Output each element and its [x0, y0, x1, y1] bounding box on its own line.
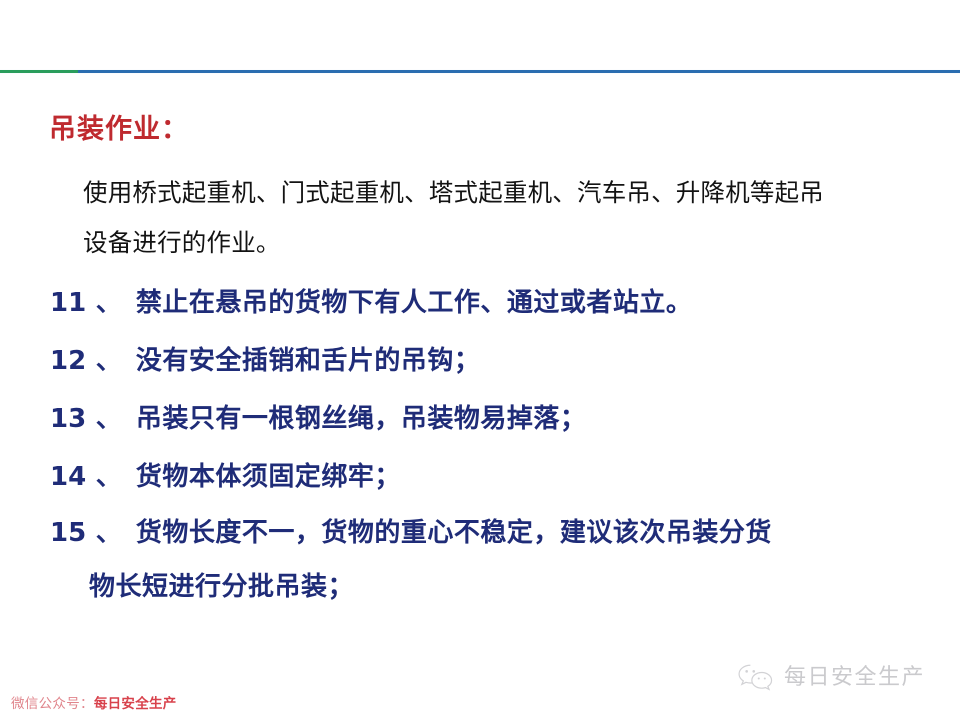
list-item-number: 13: [50, 404, 86, 434]
top-divider-rule: [0, 69, 960, 74]
list-item-number: 12: [50, 346, 86, 376]
list-item-number: 14: [50, 462, 86, 492]
page-title: 吊装作业：: [49, 107, 189, 146]
watermark-right: 每日安全生产: [737, 663, 925, 693]
description-line-1: 使用桥式起重机、门式起重机、塔式起重机、汽车吊、升降机等起吊: [83, 168, 913, 218]
watermark-left-label: 微信公众号：: [11, 696, 94, 712]
list-item-separator: 、: [96, 288, 127, 318]
divider-green-segment: [0, 70, 78, 73]
list-item-first-line: 15 、 货物长度不一，货物的重心不稳定，建议该次吊装分货: [50, 506, 930, 560]
watermark-right-brand: 每日安全生产: [784, 665, 925, 691]
list-item-separator: 、: [96, 518, 127, 548]
list-item: 13 、 吊装只有一根钢丝绳，吊装物易掉落；: [50, 390, 940, 448]
wechat-icon: [737, 663, 775, 693]
list-item-text: 禁止在悬吊的货物下有人工作、通过或者站立。: [136, 288, 693, 318]
list-item-number: 11: [50, 288, 86, 318]
list-item-number: 15: [50, 518, 86, 548]
list-item-text: 货物长度不一，货物的重心不稳定，建议该次吊装分货: [136, 518, 772, 548]
watermark-left-brand: 每日安全生产: [94, 696, 177, 712]
list-item: 14 、 货物本体须固定绑牢；: [50, 448, 940, 506]
slide-canvas: 吊装作业： 使用桥式起重机、门式起重机、塔式起重机、汽车吊、升降机等起吊 设备进…: [0, 0, 960, 720]
list-item-separator: 、: [96, 462, 127, 492]
list-item-text: 吊装只有一根钢丝绳，吊装物易掉落；: [136, 404, 587, 434]
list-item: 11 、 禁止在悬吊的货物下有人工作、通过或者站立。: [50, 274, 940, 332]
numbered-list: 11 、 禁止在悬吊的货物下有人工作、通过或者站立。 12 、 没有安全插销和舌…: [50, 274, 940, 614]
list-item-text: 货物本体须固定绑牢；: [136, 462, 401, 492]
watermark-left: 微信公众号：每日安全生产: [11, 695, 177, 713]
description-line-2: 设备进行的作业。: [83, 218, 913, 268]
list-item-separator: 、: [96, 404, 127, 434]
description-block: 使用桥式起重机、门式起重机、塔式起重机、汽车吊、升降机等起吊 设备进行的作业。: [83, 168, 913, 268]
list-item: 15 、 货物长度不一，货物的重心不稳定，建议该次吊装分货 物长短进行分批吊装；: [50, 506, 930, 614]
list-item-text: 没有安全插销和舌片的吊钩；: [136, 346, 481, 376]
divider-blue-segment: [78, 70, 960, 73]
list-item: 12 、 没有安全插销和舌片的吊钩；: [50, 332, 940, 390]
list-item-continuation-line: 物长短进行分批吊装；: [50, 560, 930, 614]
list-item-separator: 、: [96, 346, 127, 376]
